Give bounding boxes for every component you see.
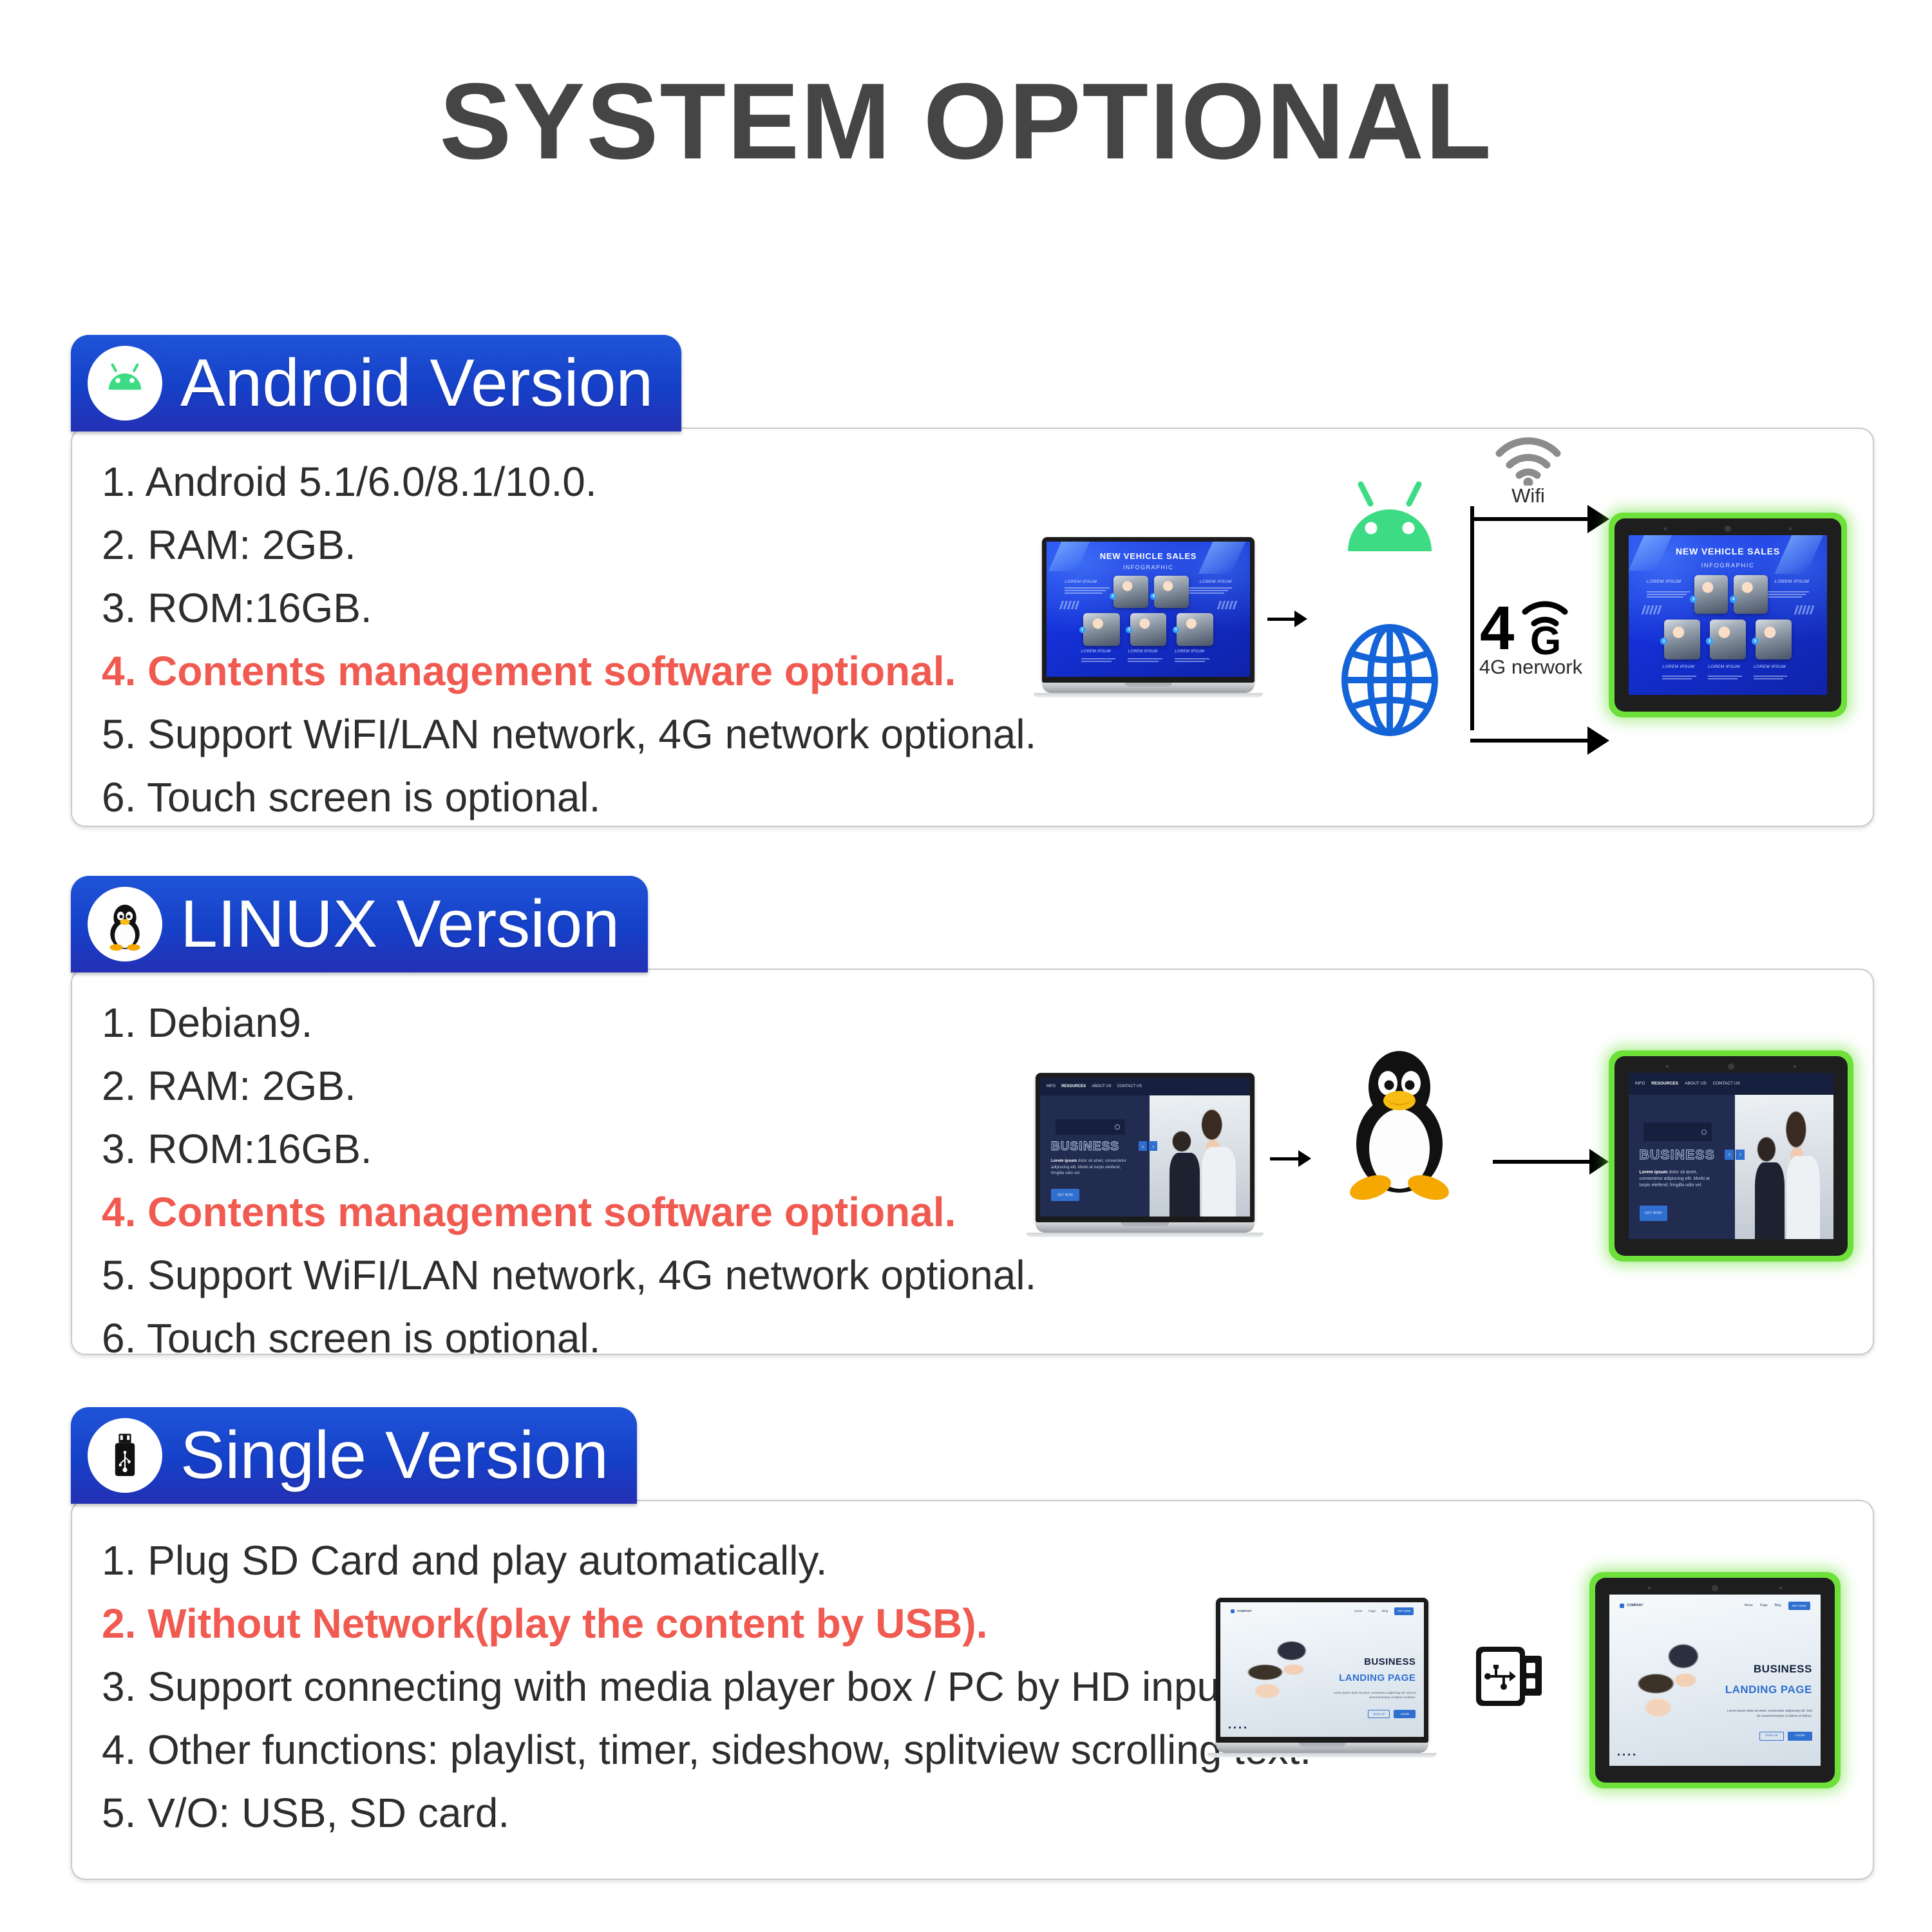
globe-icon <box>1337 622 1443 738</box>
tux-penguin-icon <box>1332 1041 1467 1202</box>
nav-item-page[interactable]: Page <box>1368 1609 1376 1613</box>
screen-label: LOREM IPSUM <box>1647 580 1681 584</box>
nav-item-contact[interactable]: CONTACT US <box>1713 1081 1740 1086</box>
screen-title: NEW VEHICLE SALES <box>1629 546 1827 556</box>
nav-item-blog[interactable]: Blog <box>1775 1604 1781 1607</box>
search-input[interactable] <box>1056 1119 1126 1135</box>
sensor-dot-right <box>1779 1587 1782 1589</box>
laptop-device-android: NEW VEHICLE SALES INFOGRAPHIC LOREM IPSU… <box>1042 537 1255 697</box>
fourg-label: 4G nerwork <box>1463 656 1598 679</box>
screen-label: LOREM IPSUM <box>1081 650 1111 654</box>
illustration-android: NEW VEHICLE SALES INFOGRAPHIC LOREM IPSU… <box>997 429 1873 826</box>
screen-title: NEW VEHICLE SALES <box>1046 551 1250 561</box>
sensor-dot-right <box>1794 1065 1796 1068</box>
screen-badge: 5 <box>1752 638 1759 645</box>
screen-label: LOREM IPSUM <box>1200 580 1232 584</box>
sign-up-button[interactable]: SIGN UP <box>1759 1732 1784 1741</box>
logo-mark-icon <box>1620 1604 1624 1608</box>
nav-item-resources[interactable]: RESOURCES <box>1061 1084 1086 1088</box>
spec-item: 1. Android 5.1/6.0/8.1/10.0. <box>102 456 1036 507</box>
section-linux: LINUX Version 1. Debian9. 2. RAM: 2GB. 3… <box>71 876 1874 1355</box>
laptop-screen-vehicle-sales: NEW VEHICLE SALES INFOGRAPHIC LOREM IPSU… <box>1046 542 1250 677</box>
section-header-android[interactable]: Android Version <box>71 335 681 431</box>
camera-icon <box>1712 1585 1718 1591</box>
screen-label: LOREM IPSUM <box>1128 650 1157 654</box>
spec-item: 6. Touch screen is optional. <box>102 772 1036 823</box>
logo-text: COMPANY <box>1237 1609 1252 1613</box>
nav-item-info[interactable]: INFO <box>1046 1084 1056 1088</box>
spec-item: 6. Touch screen is optional. <box>102 1312 1036 1355</box>
section-body-single: 1. Plug SD Card and play automatically. … <box>71 1500 1874 1880</box>
spec-item: 2. RAM: 2GB. <box>102 1060 1036 1112</box>
tablet-screen-landing-page: COMPANY Home Page Blog GET NOW <box>1609 1595 1821 1766</box>
logo-mark-icon <box>1231 1609 1235 1613</box>
tablet-device-linux: BUSINESS Lorem ipsum dolor sit amet, con… <box>1609 1050 1853 1262</box>
screen-label: LOREM IPSUM <box>1775 580 1810 584</box>
login-button[interactable]: LOGIN <box>1788 1732 1812 1741</box>
arrow-wifi-to-tablet <box>1470 505 1609 533</box>
tablet-screen-vehicle-sales: NEW VEHICLE SALES INFOGRAPHIC LOREM IPSU… <box>1629 535 1827 695</box>
svg-text:4: 4 <box>1480 594 1514 661</box>
section-header-linux[interactable]: LINUX Version <box>71 876 648 972</box>
spec-item: 3. ROM:16GB. <box>102 582 1036 634</box>
4g-signal-icon: 4 G <box>1479 590 1579 661</box>
nav-item-resources[interactable]: RESOURCES <box>1651 1081 1678 1086</box>
nav-item-about[interactable]: ABOUT US <box>1092 1084 1112 1088</box>
spec-item: 1. Plug SD Card and play automatically. <box>102 1535 1311 1586</box>
spec-list-linux: 1. Debian9. 2. RAM: 2GB. 3. ROM:16GB. 4.… <box>102 997 1036 1355</box>
sensor-dot-right <box>1789 527 1792 530</box>
spec-item: 3. ROM:16GB. <box>102 1123 1036 1175</box>
camera-icon <box>1728 1063 1734 1070</box>
section-header-label: LINUX Version <box>180 891 620 958</box>
network-trunk <box>1470 506 1474 730</box>
screen-subtitle: INFOGRAPHIC <box>1629 562 1827 569</box>
tablet-device-single: COMPANY Home Page Blog GET NOW <box>1589 1572 1841 1788</box>
screen-lead: Lorem ipsum <box>1051 1159 1077 1163</box>
laptop-device-linux: BUSINESS Lorem ipsum dolor sit amet, con… <box>1036 1073 1255 1237</box>
carousel-next-button[interactable]: › <box>1149 1141 1157 1151</box>
spec-list-android: 1. Android 5.1/6.0/8.1/10.0. 2. RAM: 2GB… <box>102 456 1036 827</box>
page-title: SYSTEM OPTIONAL <box>0 64 1932 178</box>
sensor-dot-left <box>1664 527 1667 530</box>
screen-badge: 1 <box>1660 638 1667 645</box>
wifi-label: Wifi <box>1486 484 1570 507</box>
spec-item: 5. V/O: USB, SD card. <box>102 1787 1311 1839</box>
screen-label: LOREM IPSUM <box>1708 665 1740 669</box>
spec-item: 3. Support connecting with media player … <box>102 1661 1311 1712</box>
screen-subtitle: INFOGRAPHIC <box>1046 564 1250 571</box>
tablet-device-android: NEW VEHICLE SALES INFOGRAPHIC LOREM IPSU… <box>1609 513 1847 717</box>
screen-body: Lorem ipsum dolor sit amet, consectetur … <box>1331 1691 1416 1700</box>
sensor-dot-left <box>1648 1587 1651 1589</box>
get-now-button[interactable]: GET NOW <box>1394 1607 1414 1615</box>
arrow-os-to-tablet <box>1493 1149 1609 1175</box>
usb-connector-icon <box>1473 1642 1557 1711</box>
screen-badge: 4 <box>1150 593 1157 600</box>
section-body-linux: 1. Debian9. 2. RAM: 2GB. 3. ROM:16GB. 4.… <box>71 969 1874 1355</box>
nav-item-home[interactable]: Home <box>1354 1609 1362 1613</box>
screen-label: LOREM IPSUM <box>1065 580 1097 584</box>
spec-item-highlight: 4. Contents management software optional… <box>102 1186 1036 1238</box>
screen-heading-line2: LANDING PAGE <box>1725 1683 1812 1696</box>
spec-item-highlight: 2. Without Network(play the content by U… <box>102 1598 1311 1649</box>
section-header-single[interactable]: Single Version <box>71 1407 637 1504</box>
screen-heading: BUSINESS <box>1640 1148 1715 1163</box>
brand-logo: COMPANY <box>1620 1604 1643 1608</box>
illustration-linux: BUSINESS Lorem ipsum dolor sit amet, con… <box>997 970 1873 1354</box>
screen-body: Lorem ipsum dolor sit amet, consectetur … <box>1723 1709 1812 1719</box>
spec-item: 4. Other functions: playlist, timer, sid… <box>102 1724 1311 1776</box>
brand-logo: COMPANY <box>1231 1609 1252 1613</box>
sensor-dot-left <box>1666 1065 1669 1068</box>
nav-item-info[interactable]: INFO <box>1635 1081 1645 1086</box>
arrow-4g-to-tablet <box>1470 726 1609 755</box>
laptop-screen-business: BUSINESS Lorem ipsum dolor sit amet, con… <box>1040 1077 1250 1217</box>
spec-item: 2. RAM: 2GB. <box>102 519 1036 571</box>
spec-item-highlight: 4. Contents management software optional… <box>102 645 1036 697</box>
arrow-laptop-to-os <box>1267 611 1307 627</box>
spec-item: 5. Support WiFI/LAN network, 4G network … <box>102 1249 1036 1301</box>
wifi-icon <box>1486 429 1570 486</box>
spec-list-single: 1. Plug SD Card and play automatically. … <box>102 1535 1311 1850</box>
screen-label: LOREM IPSUM <box>1754 665 1786 669</box>
carousel-prev-button[interactable]: ‹ <box>1725 1150 1734 1160</box>
arrow-laptop-to-os <box>1270 1150 1311 1167</box>
tux-penguin-icon <box>88 887 162 961</box>
logo-text: COMPANY <box>1627 1604 1643 1607</box>
screen-heading-line1: BUSINESS <box>1364 1656 1416 1667</box>
section-android: Android Version 1. Android 5.1/6.0/8.1/1… <box>71 335 1874 827</box>
tablet-screen-business: BUSINESS Lorem ipsum dolor sit amet, con… <box>1629 1073 1833 1239</box>
spec-item: 1. Debian9. <box>102 997 1036 1048</box>
sign-up-button[interactable]: SIGN UP <box>1368 1710 1390 1718</box>
carousel-next-button[interactable]: › <box>1736 1150 1745 1160</box>
illustration-single: COMPANY Home Page Blog GET NOW <box>1190 1501 1873 1879</box>
nav-item-contact[interactable]: CONTACT US <box>1117 1084 1142 1088</box>
section-header-label: Single Version <box>180 1422 609 1489</box>
screen-heading: BUSINESS <box>1051 1140 1119 1154</box>
screen-label: LOREM IPSUM <box>1175 650 1204 654</box>
screen-heading-line2: LANDING PAGE <box>1339 1672 1416 1683</box>
screen-badge: 3 <box>1706 638 1713 645</box>
get-now-button[interactable]: GET NOW <box>1640 1206 1667 1220</box>
nav-item-about[interactable]: ABOUT US <box>1685 1081 1707 1086</box>
spec-item: 5. Support WiFI/LAN network, 4G network … <box>102 708 1036 760</box>
screen-badge: 2 <box>1110 593 1116 600</box>
screen-label: LOREM IPSUM <box>1662 665 1694 669</box>
laptop-screen-landing-page: COMPANY Home Page Blog GET NOW <box>1220 1602 1424 1737</box>
get-now-button[interactable]: GET NOW <box>1788 1602 1810 1610</box>
nav-item-home[interactable]: Home <box>1745 1604 1753 1607</box>
android-robot-icon <box>88 346 162 421</box>
section-body-android: 1. Android 5.1/6.0/8.1/10.0. 2. RAM: 2GB… <box>71 428 1874 827</box>
android-robot-icon <box>1335 479 1444 556</box>
nav-item-blog[interactable]: Blog <box>1382 1609 1388 1613</box>
carousel-prev-button[interactable]: ‹ <box>1139 1141 1147 1151</box>
section-header-label: Android Version <box>180 350 653 417</box>
nav-item-page[interactable]: Page <box>1760 1604 1768 1607</box>
laptop-device-single: COMPANY Home Page Blog GET NOW <box>1216 1598 1428 1757</box>
svg-text:G: G <box>1530 619 1561 661</box>
search-input[interactable] <box>1643 1122 1712 1141</box>
login-button[interactable]: LOGIN <box>1394 1710 1416 1718</box>
usb-flash-drive-icon <box>88 1418 162 1493</box>
screen-heading-line1: BUSINESS <box>1754 1663 1812 1676</box>
get-now-button[interactable]: GET NOW <box>1051 1189 1079 1201</box>
screen-badge: 1 <box>1079 627 1086 633</box>
section-single: Single Version 1. Plug SD Card and play … <box>71 1407 1874 1880</box>
screen-lead: Lorem ipsum <box>1640 1170 1668 1175</box>
camera-icon <box>1725 526 1731 532</box>
poster-root: SYSTEM OPTIONAL Android Version 1. And <box>0 0 1932 1932</box>
